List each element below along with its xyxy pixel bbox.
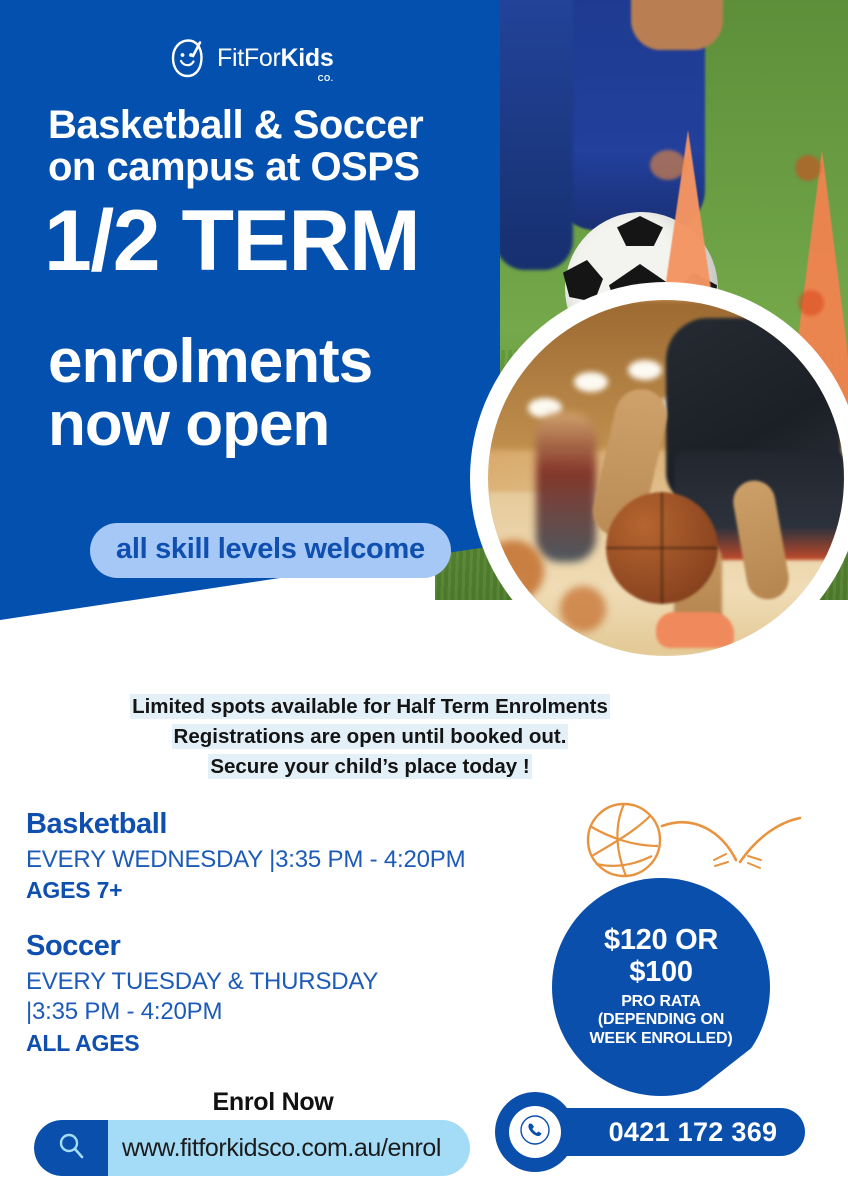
phone-cta[interactable]: 0421 172 369 (495, 1092, 805, 1172)
schedule-section: Basketball EVERY WEDNESDAY |3:35 PM - 4:… (26, 808, 546, 1057)
sport-schedule-time: EVERY WEDNESDAY |3:35 PM - 4:20PM (26, 845, 546, 875)
schedule-item-soccer: Soccer EVERY TUESDAY & THURSDAY |3:35 PM… (26, 930, 546, 1056)
sport-age-range: ALL AGES (26, 1030, 546, 1057)
brand-name-fit: Fit (217, 44, 244, 72)
price-condition-line-2: WEEK ENROLLED) (590, 1030, 733, 1049)
background-player (536, 412, 596, 562)
price-prorata-label: PRO RATA (621, 993, 701, 1012)
cone-dot (650, 150, 686, 180)
foreground-player-shoe (656, 612, 734, 648)
headline-enrolments-line1: enrolments (48, 330, 372, 393)
cone-dot (795, 155, 821, 181)
brand-suffix: CO. (318, 75, 334, 83)
phone-number-text: 0421 172 369 (565, 1117, 778, 1148)
gym-light (628, 360, 662, 380)
background-basketball (560, 586, 606, 632)
price-line-2: $100 (629, 957, 692, 989)
headline-half-term: 1/2 TERM (44, 198, 419, 284)
skill-levels-badge: all skill levels welcome (90, 523, 451, 578)
price-sticker-content: $120 OR $100 PRO RATA (DEPENDING ON WEEK… (552, 878, 770, 1096)
gym-light (574, 372, 608, 392)
limited-spots-notice: Limited spots available for Half Term En… (0, 692, 740, 782)
schedule-item-basketball: Basketball EVERY WEDNESDAY |3:35 PM - 4:… (26, 808, 546, 904)
notice-line-1: Limited spots available for Half Term En… (130, 694, 610, 719)
search-button[interactable] (34, 1120, 108, 1176)
basketball-photo (488, 300, 844, 656)
enrol-url-text: www.fitforkidsco.com.au/enrol (108, 1134, 441, 1163)
flyer-poster: FitForKidsCO. Basketball & Soccer on cam… (0, 0, 848, 1200)
sport-age-range: AGES 7+ (26, 877, 546, 904)
brand-name: FitForKidsCO. (217, 46, 333, 71)
phone-icon-circle (509, 1106, 561, 1158)
magnifier-icon (56, 1131, 86, 1166)
notice-line-3: Secure your child’s place today ! (208, 754, 531, 779)
enrol-url-bar[interactable]: www.fitforkidsco.com.au/enrol (34, 1120, 470, 1176)
headline-primary: Basketball & Soccer on campus at OSPS (48, 104, 518, 188)
brand-logo: FitForKidsCO. (168, 36, 333, 80)
basketball-photo-circle-frame (470, 282, 848, 674)
phone-number-pill[interactable]: 0421 172 369 (537, 1108, 805, 1156)
price-condition-line-1: (DEPENDING ON (598, 1011, 724, 1030)
enrol-now-label: Enrol Now (148, 1088, 398, 1117)
sport-schedule-days: EVERY TUESDAY & THURSDAY (26, 967, 546, 997)
sport-title: Basketball (26, 808, 546, 841)
notice-line-2: Registrations are open until booked out. (172, 724, 569, 749)
dribbled-basketball (606, 492, 718, 604)
phone-handset-icon (519, 1114, 551, 1151)
sport-schedule-time: |3:35 PM - 4:20PM (26, 997, 546, 1027)
price-line-1: $120 OR (604, 925, 718, 957)
brand-name-for: For (244, 44, 281, 72)
sport-title: Soccer (26, 930, 546, 963)
headline-enrolments: enrolments now open (48, 330, 372, 456)
smiley-egg-check-icon (168, 36, 208, 80)
headline-line-1: Basketball & Soccer (48, 104, 518, 146)
brand-name-kids: Kids (280, 44, 333, 72)
player-knee (631, 0, 723, 50)
headline-enrolments-line2: now open (48, 393, 372, 456)
headline-line-2: on campus at OSPS (48, 146, 518, 188)
